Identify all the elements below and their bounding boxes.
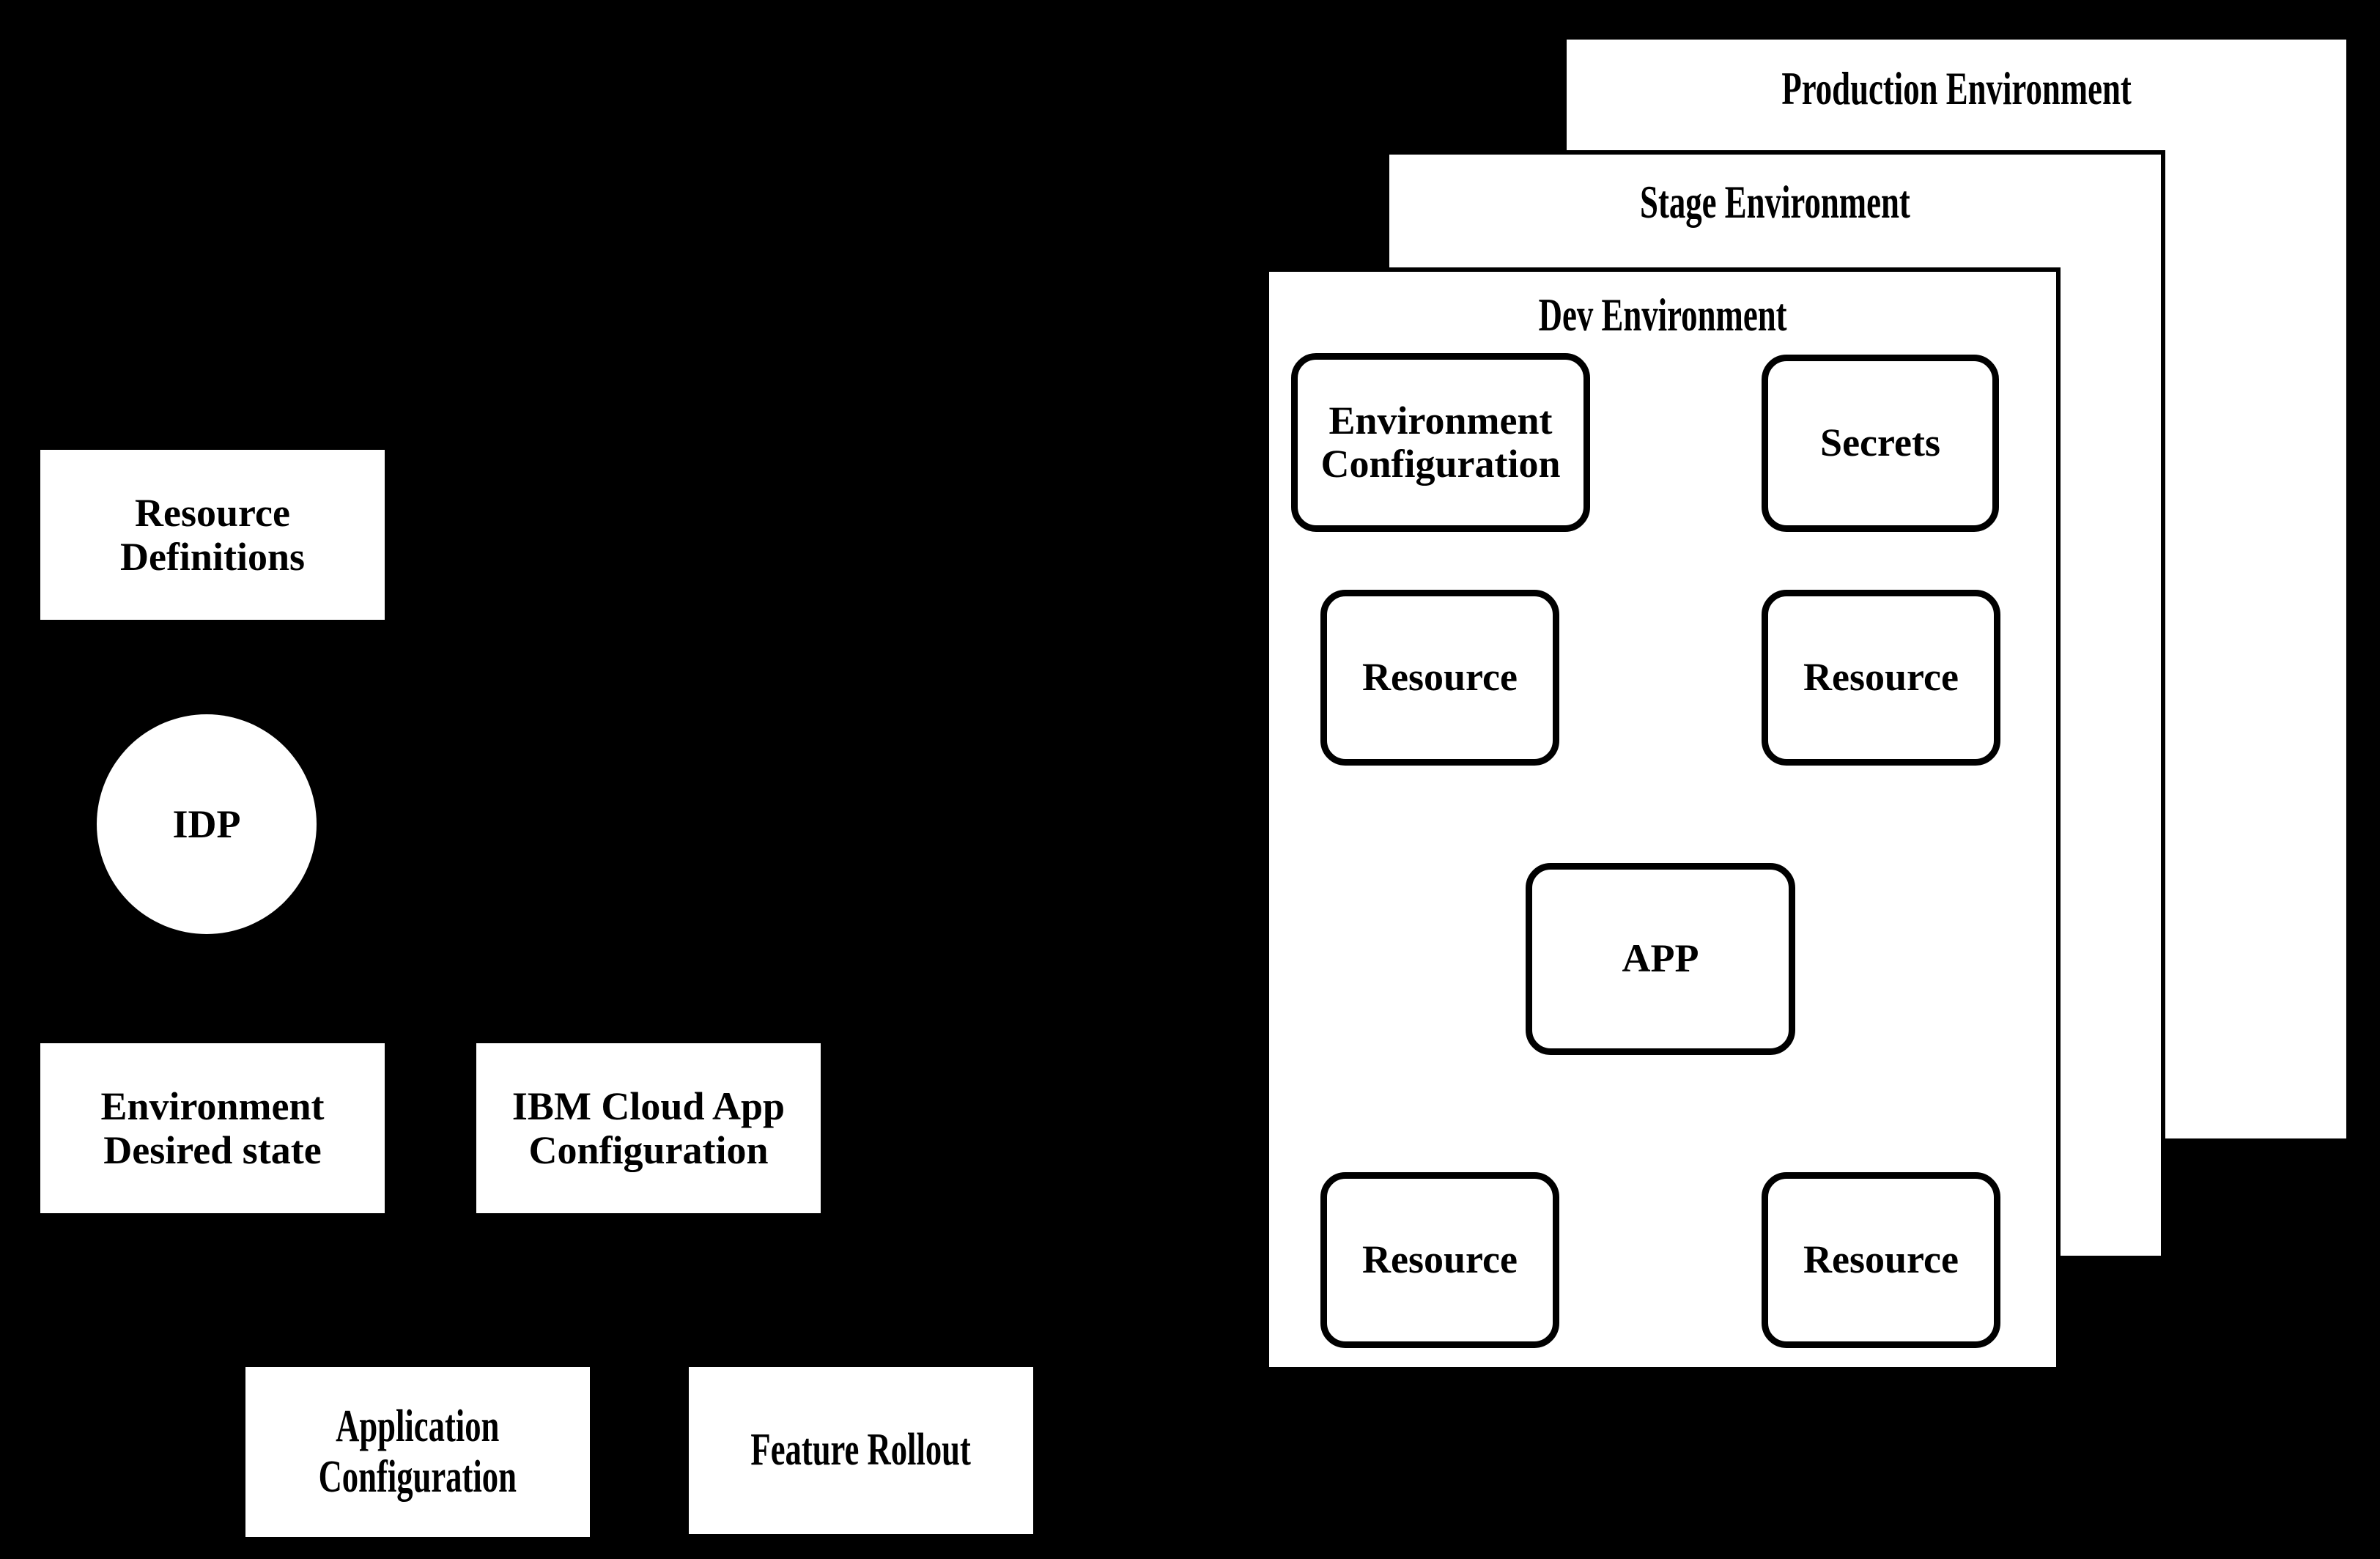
- node-environment-configuration: Environment Configuration: [1291, 353, 1590, 532]
- node-secrets: Secrets: [1762, 355, 1999, 532]
- environment-configuration-label: Environment Configuration: [1298, 399, 1583, 486]
- node-resource-bottom-left: Resource: [1320, 1172, 1559, 1348]
- node-resource-top-right: Resource: [1762, 590, 2000, 766]
- node-app: APP: [1526, 863, 1795, 1055]
- node-resource-top-left: Resource: [1320, 590, 1559, 766]
- node-resource-bottom-right: Resource: [1762, 1172, 2000, 1348]
- panel-dev-title: Dev Environment: [1269, 288, 2056, 342]
- diagram-canvas: Resource Definitions IDP Environment Des…: [0, 0, 2380, 1559]
